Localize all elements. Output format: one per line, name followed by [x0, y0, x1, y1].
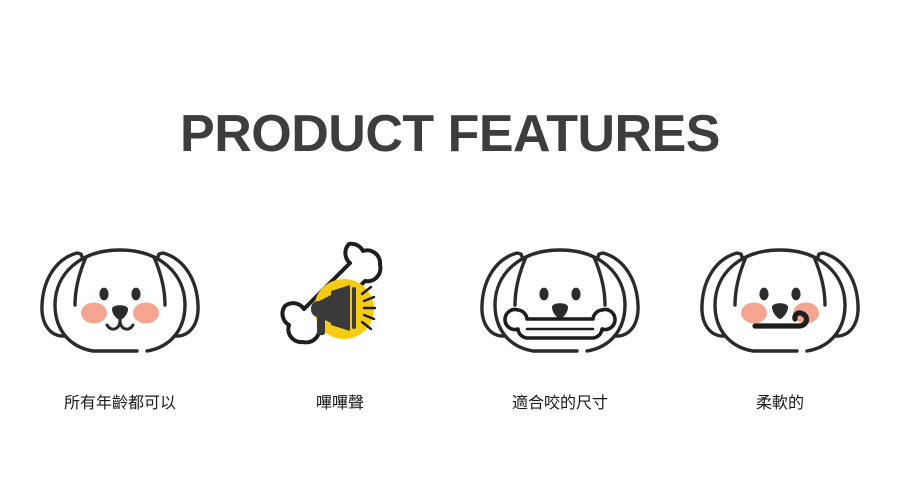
feature-label: 嗶嗶聲	[316, 394, 364, 413]
feature-item-chew-size: 適合咬的尺寸	[462, 236, 658, 413]
feature-item-squeaky: 嗶嗶聲	[242, 236, 438, 413]
page-title: PRODUCT FEATURES	[0, 104, 900, 164]
dog-face-biting-bone-icon	[462, 236, 658, 366]
features-row: 所有年齡都可以	[0, 236, 900, 413]
dog-face-blush-icon	[22, 236, 218, 366]
feature-item-soft: 柔軟的	[682, 236, 878, 413]
dog-face-soft-strip-icon	[682, 236, 878, 366]
product-features-page: PRODUCT FEATURES	[0, 0, 900, 486]
bone-with-megaphone-icon	[242, 236, 438, 366]
feature-label: 適合咬的尺寸	[512, 394, 608, 413]
feature-label: 柔軟的	[756, 394, 804, 413]
feature-label: 所有年齡都可以	[64, 394, 176, 413]
feature-item-all-ages: 所有年齡都可以	[22, 236, 218, 413]
